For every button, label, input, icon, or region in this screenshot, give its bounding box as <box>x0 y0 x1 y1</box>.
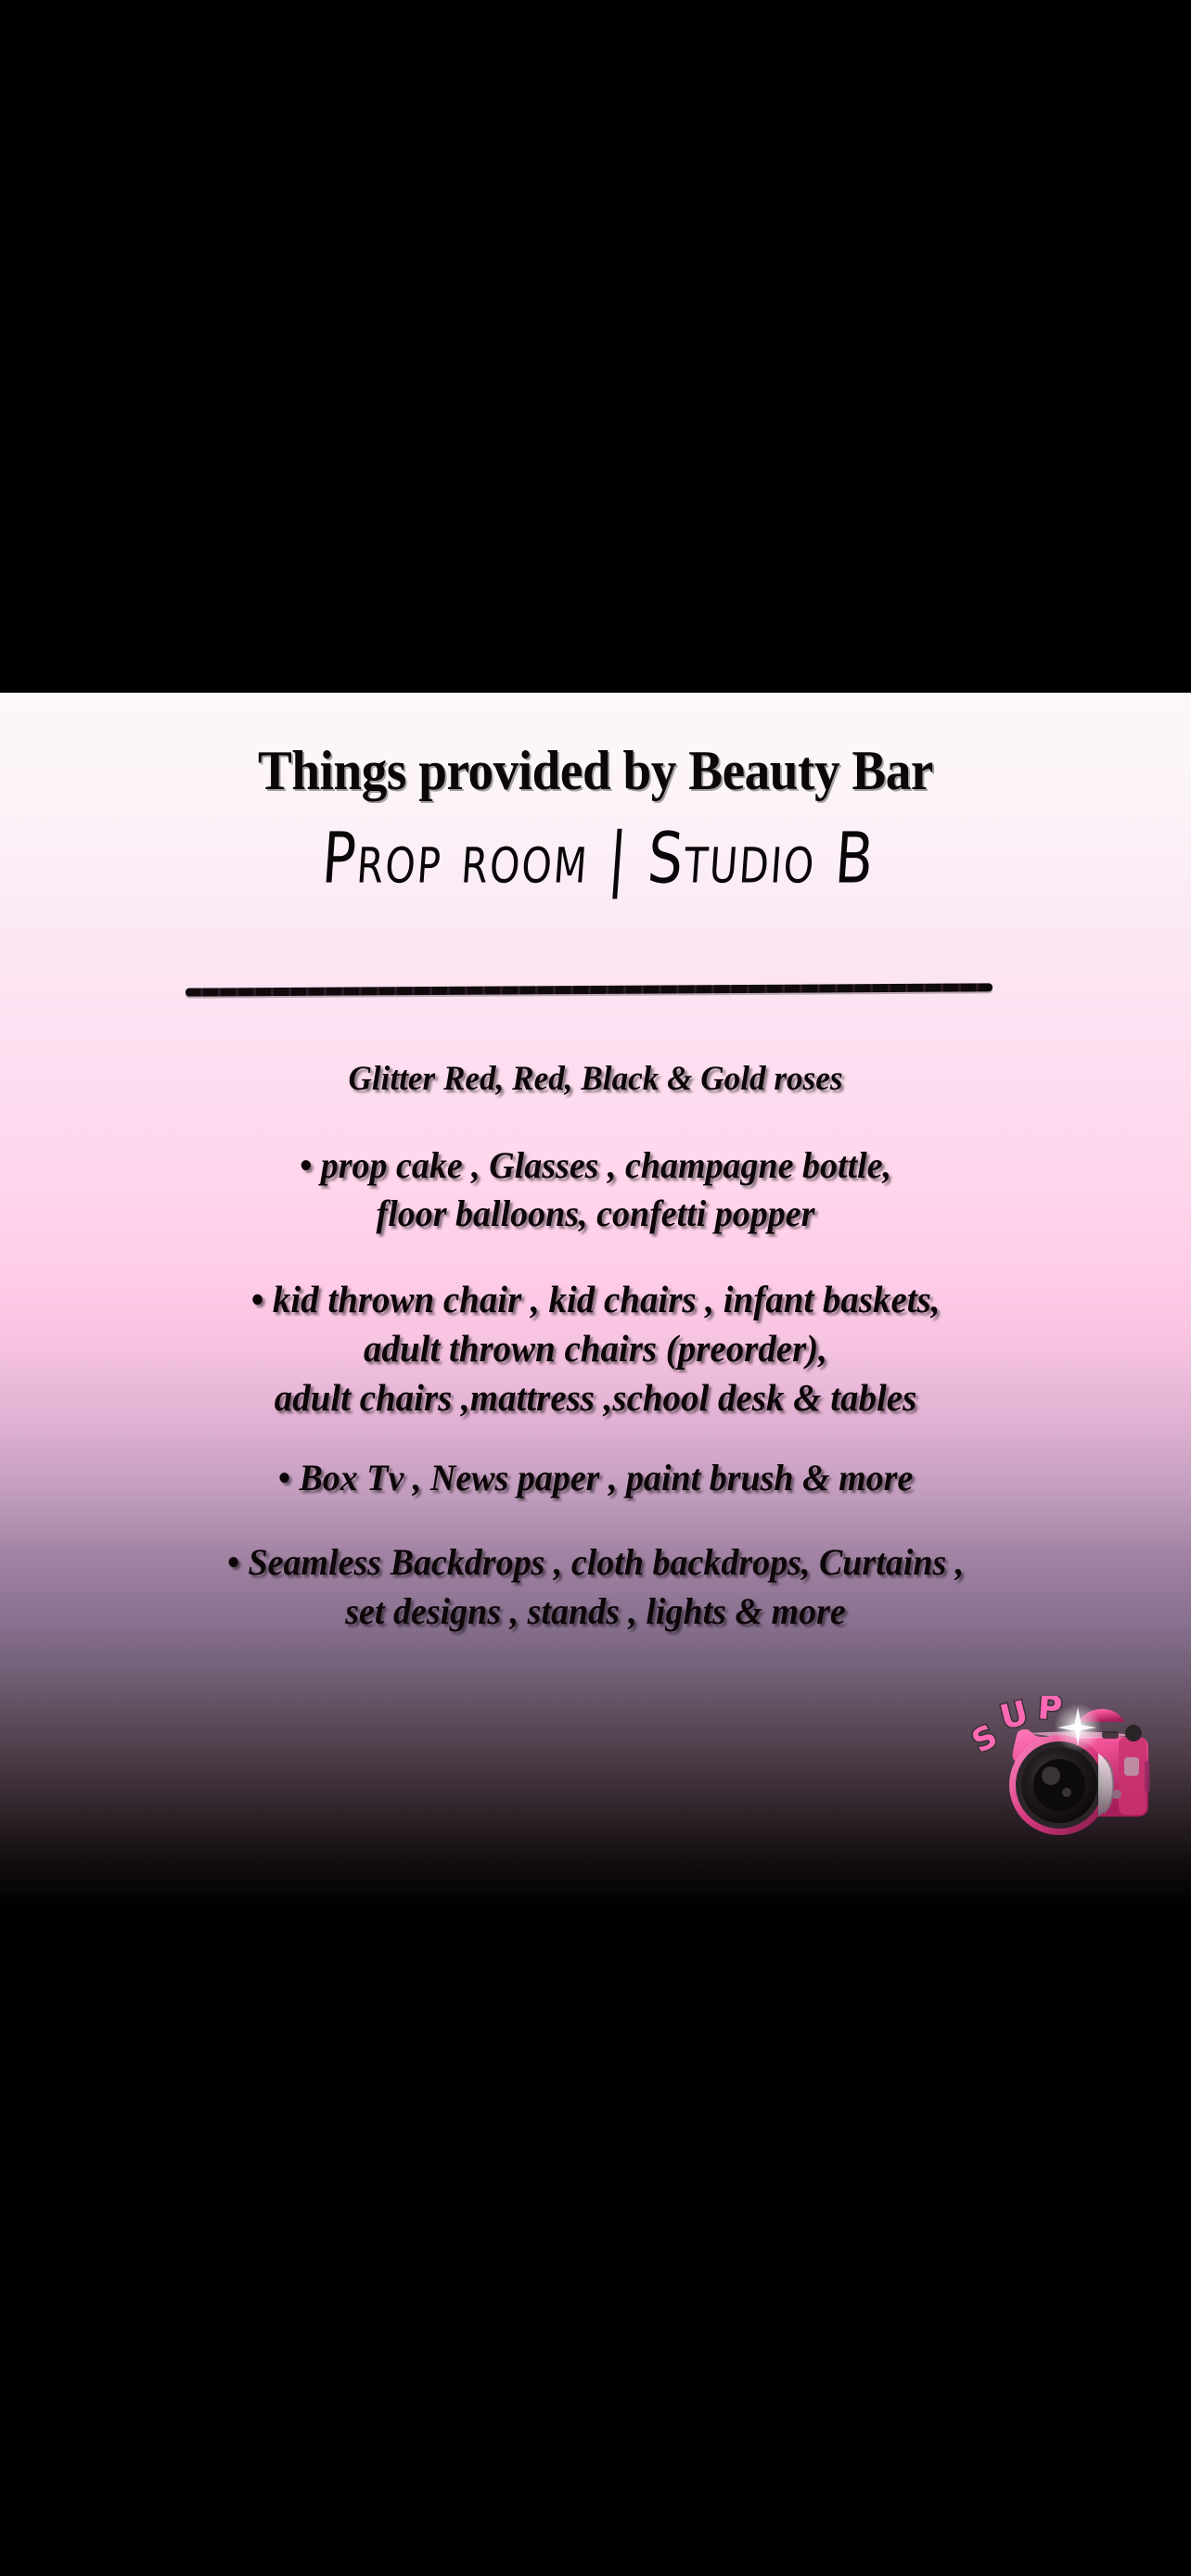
list-item: • Box Tv , News paper , paint brush & mo… <box>30 1454 1161 1502</box>
list-item-line: Glitter Red, Red, Black & Gold roses <box>30 1056 1161 1103</box>
divider-rule <box>186 983 992 996</box>
camera-icon: S U P <box>963 1696 1176 1858</box>
list-item-line: adult chairs ,mattress ,school desk & ta… <box>30 1373 1161 1422</box>
list-item-line: • prop cake , Glasses , champagne bottle… <box>30 1141 1161 1190</box>
list-item-line: floor balloons, confetti popper <box>30 1190 1161 1238</box>
list-item-line: set designs , stands , lights & more <box>30 1587 1161 1636</box>
subtitle-handwritten: Prop room | Studio B <box>319 817 877 899</box>
list-item-line: • Box Tv , News paper , paint brush & mo… <box>30 1454 1161 1502</box>
list-item-line: • kid thrown chair , kid chairs , infant… <box>30 1275 1161 1324</box>
list-item: • prop cake , Glasses , champagne bottle… <box>30 1141 1161 1238</box>
subtitle-row: Prop room | Studio B <box>0 832 1191 899</box>
list-item: Glitter Red, Red, Black & Gold roses <box>30 1056 1161 1103</box>
flash-burst <box>1054 1703 1102 1752</box>
screenshot-frame: Things provided by Beauty Bar Prop room … <box>0 0 1191 2576</box>
provided-items-list: Glitter Red, Red, Black & Gold roses • p… <box>0 1056 1191 1636</box>
list-item: • kid thrown chair , kid chairs , infant… <box>30 1275 1161 1422</box>
list-item-line: • Seamless Backdrops , cloth backdrops, … <box>30 1537 1161 1587</box>
letterbox-bottom <box>0 1910 1191 2576</box>
list-item: • Seamless Backdrops , cloth backdrops, … <box>30 1537 1161 1636</box>
page-title: Things provided by Beauty Bar <box>47 739 1143 803</box>
poster-card: Things provided by Beauty Bar Prop room … <box>0 693 1191 1910</box>
svg-text:S: S <box>966 1717 1003 1761</box>
letterbox-top <box>0 0 1191 693</box>
list-item-line: adult thrown chairs (preorder), <box>30 1324 1161 1373</box>
